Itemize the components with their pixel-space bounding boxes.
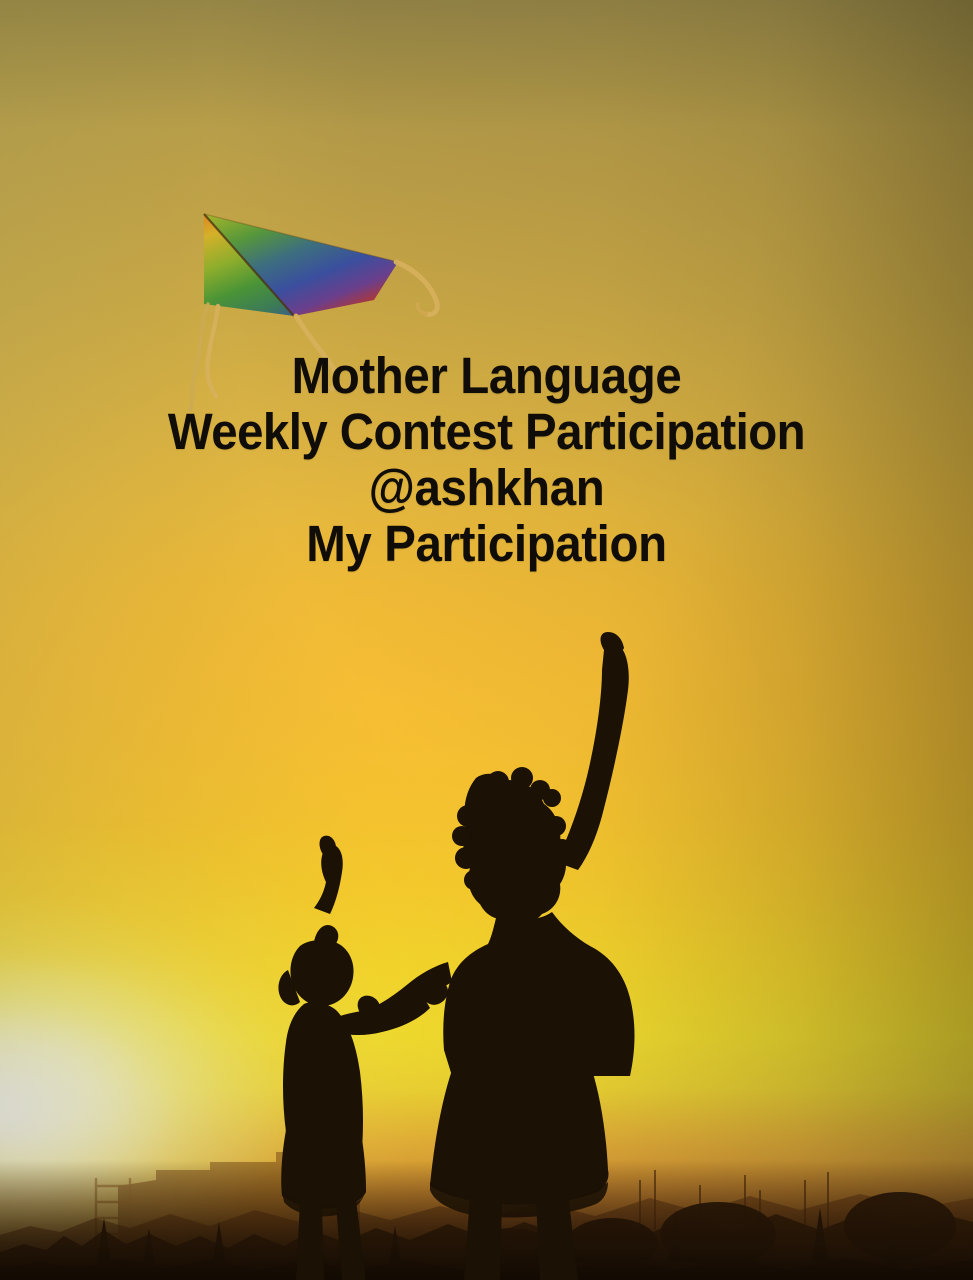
adult-figure [358,632,635,1280]
poster-image: Mother Language Weekly Contest Participa… [0,0,973,1280]
silhouette-figures [0,630,973,1280]
child-figure [278,836,448,1280]
rainbow-kite [168,196,458,411]
